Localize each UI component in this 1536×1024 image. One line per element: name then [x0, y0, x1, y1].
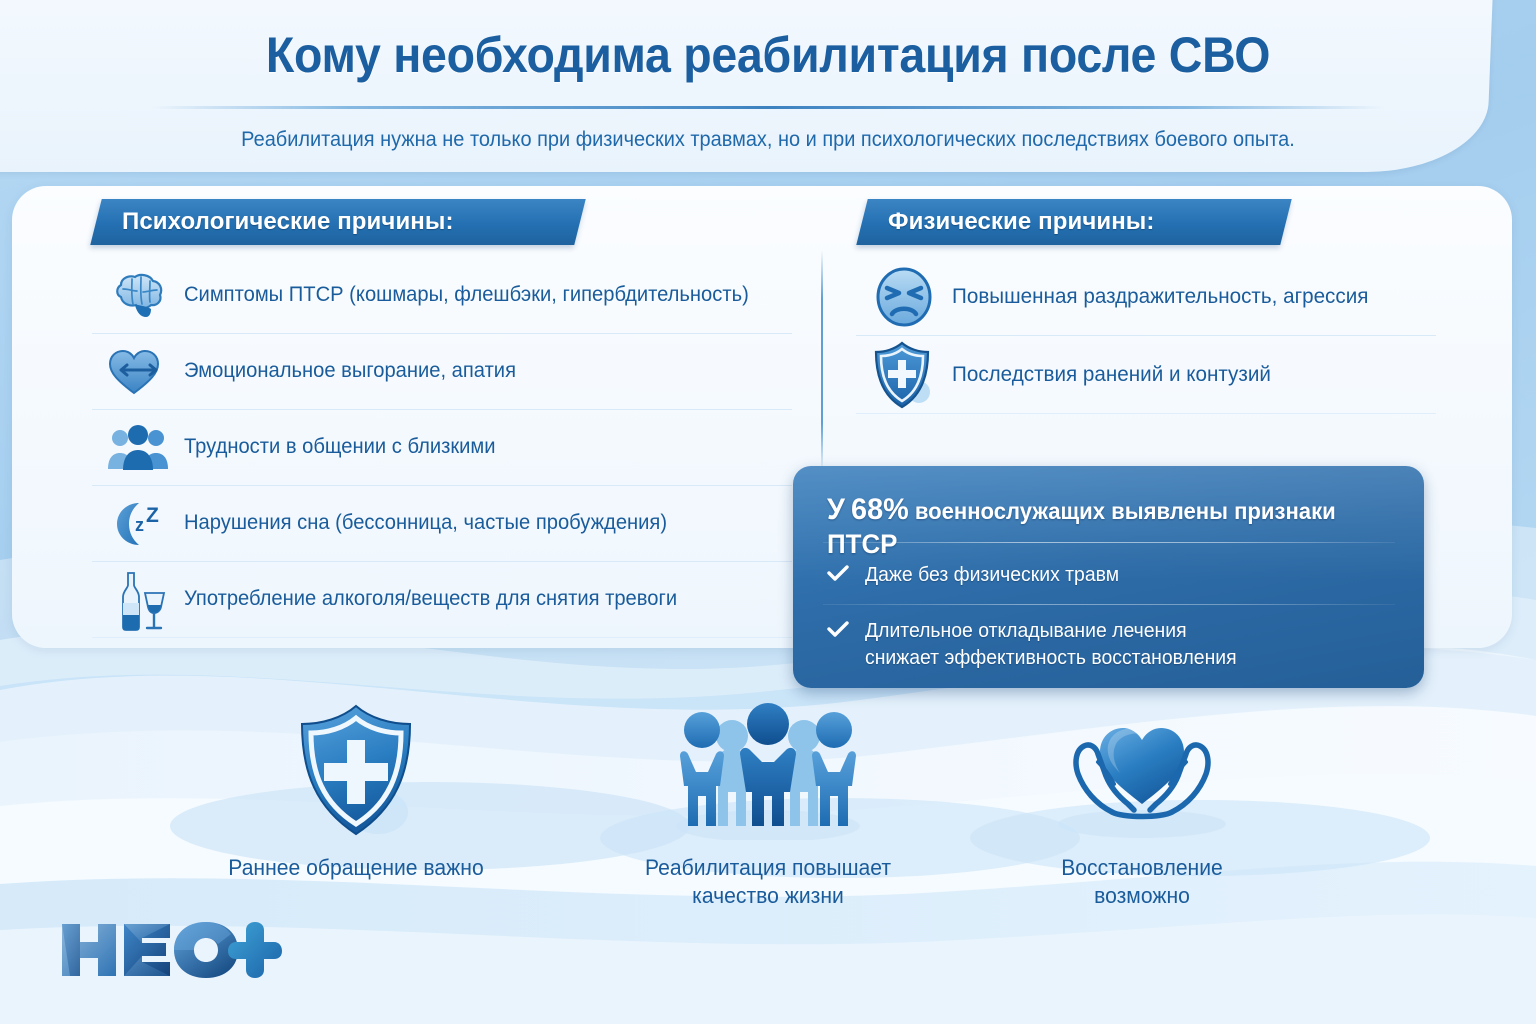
- callout-bullet: Длительное откладывание лечения снижает …: [827, 618, 1248, 672]
- list-item-label: Повышенная раздражительность, агрессия: [952, 284, 1368, 309]
- benefit-item: Восстановление возможно: [962, 700, 1322, 909]
- callout-divider: [823, 542, 1395, 543]
- benefit-label: Восстановление возможно: [969, 854, 1315, 909]
- list-item[interactable]: Эмоциональное выгорание, апатия: [92, 334, 792, 410]
- heart-in-hands-icon: [962, 700, 1322, 840]
- statistic-prefix: У: [827, 493, 845, 526]
- callout-divider-2: [823, 604, 1395, 605]
- statistic-percent: 68%: [851, 493, 909, 526]
- callout-bullet-label: Длительное откладывание лечения снижает …: [865, 618, 1237, 672]
- neo-plus-logo[interactable]: [58, 918, 288, 982]
- angry-face-icon: [856, 266, 952, 328]
- list-item[interactable]: Последствия ранений и контузий: [856, 336, 1436, 414]
- list-item[interactable]: Симптомы ПТСР (кошмары, флешбэки, гиперб…: [92, 258, 792, 334]
- physical-causes-list: Повышенная раздражительность, агрессия П…: [856, 258, 1436, 414]
- shield-cross-icon: [856, 340, 952, 410]
- list-item-label: Эмоциональное выгорание, апатия: [184, 359, 516, 383]
- benefit-item: Реабилитация повышает качество жизни: [588, 700, 948, 909]
- list-item[interactable]: Употребление алкоголя/веществ для снятия…: [92, 562, 792, 638]
- callout-bullet: Даже без физических травм: [827, 562, 1127, 589]
- brain-icon: [92, 271, 184, 321]
- list-item-label: Трудности в общении с близкими: [184, 435, 496, 459]
- list-item-label: Нарушения сна (бессонница, частые пробуж…: [184, 511, 667, 535]
- psychological-causes-list: Симптомы ПТСР (кошмары, флешбэки, гиперб…: [92, 258, 792, 638]
- header-content: Кому необходима реабилитация после СВО Р…: [0, 0, 1536, 190]
- svg-text:z: z: [135, 515, 144, 535]
- benefit-label: Раннее обращение важно: [183, 854, 529, 882]
- banner-psychological-causes: Психологические причины:: [90, 199, 585, 245]
- svg-text:Z: Z: [146, 504, 159, 527]
- column-divider: [821, 250, 823, 472]
- list-item-label: Последствия ранений и контузий: [952, 362, 1271, 387]
- banner-physical-causes: Физические причины:: [856, 199, 1291, 245]
- banner-physical-label: Физические причины:: [862, 199, 1286, 245]
- people-group-large-icon: [588, 700, 948, 840]
- title-divider: [152, 106, 1384, 109]
- list-item[interactable]: Повышенная раздражительность, агрессия: [856, 258, 1436, 336]
- page-title: Кому необходима реабилитация после СВО: [54, 26, 1482, 84]
- bottle-glass-icon: [92, 569, 184, 631]
- page-subtitle: Реабилитация нужна не только при физичес…: [38, 128, 1497, 152]
- check-icon: [827, 562, 849, 587]
- infographic-root: Кому необходима реабилитация после СВО Р…: [0, 0, 1536, 1024]
- benefit-label: Реабилитация повышает качество жизни: [595, 854, 941, 909]
- statistic-callout: У 68% военнослужащих выявлены признаки П…: [793, 466, 1424, 688]
- list-item-label: Употребление алкоголя/веществ для снятия…: [184, 587, 677, 611]
- statistic-headline: У 68% военнослужащих выявлены признаки П…: [827, 492, 1370, 560]
- shield-cross-large-icon: [176, 700, 536, 840]
- list-item-label: Симптомы ПТСР (кошмары, флешбэки, гиперб…: [184, 283, 749, 307]
- callout-bullet-label: Даже без физических травм: [865, 562, 1119, 589]
- benefit-item: Раннее обращение важно: [176, 700, 536, 882]
- check-icon: [827, 618, 849, 643]
- statistic-suffix: ПТСР: [827, 529, 897, 559]
- statistic-middle: военнослужащих выявлены признаки: [915, 498, 1336, 524]
- benefits-row: Раннее обращение важно: [0, 700, 1536, 940]
- moon-sleep-icon: z Z: [92, 497, 184, 551]
- list-item[interactable]: Трудности в общении с близкими: [92, 410, 792, 486]
- list-item[interactable]: z Z Нарушения сна (бессонница, частые пр…: [92, 486, 792, 562]
- people-group-icon: [92, 423, 184, 473]
- heart-arrow-icon: [92, 345, 184, 399]
- banner-psychological-label: Психологические причины:: [96, 199, 580, 245]
